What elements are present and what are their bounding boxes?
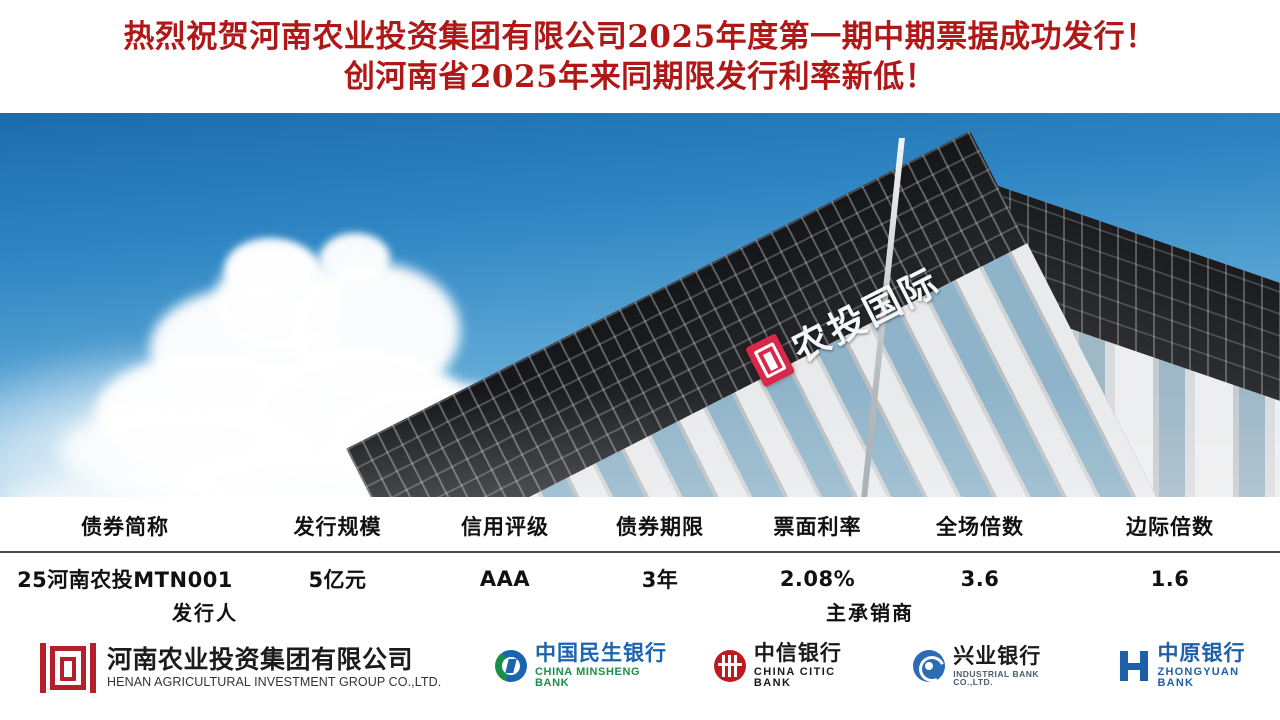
- table-header-cell: 边际倍数: [1060, 497, 1280, 552]
- title-line-2: 创河南省2025年来同期限发行利率新低！: [344, 57, 936, 97]
- bank-name-group: 兴业银行 INDUSTRIAL BANK CO.,LTD.: [953, 646, 1081, 687]
- issuer-name-cn: 河南农业投资集团有限公司: [107, 646, 441, 674]
- bank-name-en: ZHONGYUAN BANK: [1158, 667, 1280, 689]
- bond-detail-table-wrap: 债券简称 发行规模 信用评级 债券期限 票面利率 全场倍数 边际倍数 25河南农…: [0, 497, 1280, 595]
- bond-detail-table: 债券简称 发行规模 信用评级 债券期限 票面利率 全场倍数 边际倍数 25河南农…: [0, 497, 1280, 602]
- bank-name-cn: 兴业银行: [953, 646, 1081, 667]
- bank-logo-industrial: 兴业银行 INDUSTRIAL BANK CO.,LTD.: [913, 646, 1081, 687]
- table-header-row: 债券简称 发行规模 信用评级 债券期限 票面利率 全场倍数 边际倍数: [0, 497, 1280, 552]
- table-header-cell: 债券期限: [585, 497, 735, 552]
- issuer-caption: 发行人: [105, 597, 305, 626]
- minsheng-bank-icon: [495, 650, 527, 682]
- bank-logo-citic: 中信银行 CHINA CITIC BANK: [714, 643, 877, 689]
- issuer-seal-icon: [40, 643, 96, 693]
- underwriter-logo-list: 中国民生银行 CHINA MINSHENG BANK 中信银行 CHINA CI…: [495, 643, 1280, 689]
- hero-photo: 农投国际: [0, 113, 1280, 497]
- bank-logo-minsheng: 中国民生银行 CHINA MINSHENG BANK: [495, 643, 678, 689]
- industrial-bank-icon: [913, 650, 945, 682]
- title-line-1: 热烈祝贺河南农业投资集团有限公司2025年度第一期中期票据成功发行！: [123, 17, 1156, 57]
- table-header-cell: 票面利率: [735, 497, 900, 552]
- table-header-cell: 债券简称: [0, 497, 250, 552]
- table-header-cell: 发行规模: [250, 497, 425, 552]
- table-header-cell: 全场倍数: [900, 497, 1060, 552]
- bank-name-cn: 中国民生银行: [535, 643, 678, 664]
- bond-issuance-poster: 热烈祝贺河南农业投资集团有限公司2025年度第一期中期票据成功发行！ 创河南省2…: [0, 0, 1280, 720]
- bank-logo-zhongyuan: 中原银行 ZHONGYUAN BANK: [1118, 643, 1280, 689]
- issuer-logo: 河南农业投资集团有限公司 HENAN AGRICULTURAL INVESTME…: [40, 643, 441, 693]
- zhongyuan-bank-icon: [1118, 651, 1150, 681]
- title-block: 热烈祝贺河南农业投资集团有限公司2025年度第一期中期票据成功发行！ 创河南省2…: [0, 0, 1280, 113]
- bank-name-group: 中国民生银行 CHINA MINSHENG BANK: [535, 643, 678, 689]
- bank-name-cn: 中原银行: [1158, 643, 1280, 664]
- bank-name-en: CHINA MINSHENG BANK: [535, 667, 678, 689]
- bank-name-en: INDUSTRIAL BANK CO.,LTD.: [953, 670, 1081, 687]
- issuer-name-en: HENAN AGRICULTURAL INVESTMENT GROUP CO.,…: [107, 675, 441, 690]
- bank-name-en: CHINA CITIC BANK: [754, 667, 877, 689]
- underwriters-caption: 主承销商: [770, 597, 970, 626]
- citic-bank-icon: [714, 650, 746, 682]
- bank-name-group: 中原银行 ZHONGYUAN BANK: [1158, 643, 1280, 689]
- issuer-name-group: 河南农业投资集团有限公司 HENAN AGRICULTURAL INVESTME…: [107, 646, 441, 690]
- office-building: 农投国际: [0, 113, 1280, 497]
- bank-name-group: 中信银行 CHINA CITIC BANK: [754, 643, 877, 689]
- bank-name-cn: 中信银行: [754, 643, 877, 664]
- table-header-cell: 信用评级: [425, 497, 585, 552]
